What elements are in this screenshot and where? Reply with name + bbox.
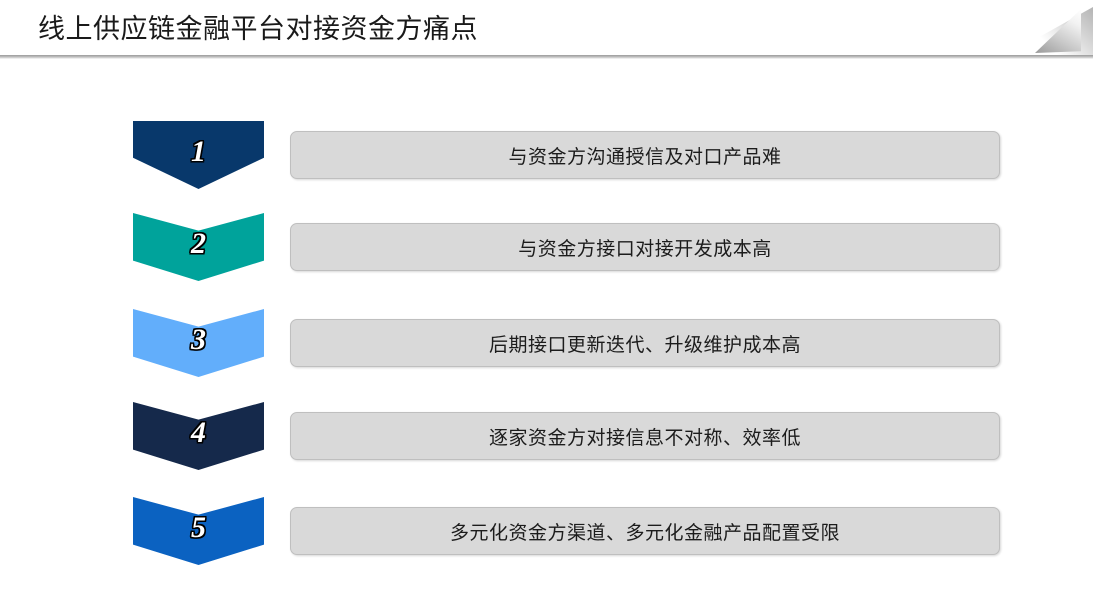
slide-header: 线上供应链金融平台对接资金方痛点 <box>0 0 1093 58</box>
pain-point-panel[interactable]: 与资金方沟通授信及对口产品难 <box>290 131 1000 179</box>
pain-point-panel[interactable]: 多元化资金方渠道、多元化金融产品配置受限 <box>290 507 1000 555</box>
pain-point-panel[interactable]: 后期接口更新迭代、升级维护成本高 <box>290 319 1000 367</box>
pain-point-row: 3后期接口更新迭代、升级维护成本高 <box>0 309 1093 404</box>
pain-point-panel[interactable]: 逐家资金方对接信息不对称、效率低 <box>290 412 1000 460</box>
step-number: 2 <box>133 213 264 281</box>
page-title: 线上供应链金融平台对接资金方痛点 <box>38 7 478 46</box>
step-badge-3[interactable]: 3 <box>133 309 264 377</box>
pain-point-label: 多元化资金方渠道、多元化金融产品配置受限 <box>450 518 840 545</box>
page-curl-icon <box>1007 0 1093 59</box>
pain-point-row: 5多元化资金方渠道、多元化金融产品配置受限 <box>0 497 1093 592</box>
pain-point-label: 与资金方接口对接开发成本高 <box>518 234 772 261</box>
pain-point-label: 逐家资金方对接信息不对称、效率低 <box>489 423 801 450</box>
page-curl-fold <box>1035 9 1081 53</box>
page-curl-shadow <box>1007 7 1093 55</box>
pain-point-panel[interactable]: 与资金方接口对接开发成本高 <box>290 223 1000 271</box>
pain-point-list: 1与资金方沟通授信及对口产品难2与资金方接口对接开发成本高3后期接口更新迭代、升… <box>0 58 1093 574</box>
step-badge-4[interactable]: 4 <box>133 402 264 470</box>
pain-point-row: 4逐家资金方对接信息不对称、效率低 <box>0 402 1093 497</box>
step-number: 3 <box>133 309 264 377</box>
step-badge-5[interactable]: 5 <box>133 497 264 565</box>
step-badge-1[interactable]: 1 <box>133 121 264 189</box>
pain-point-row: 1与资金方沟通授信及对口产品难 <box>0 121 1093 216</box>
step-badge-2[interactable]: 2 <box>133 213 264 281</box>
step-number: 1 <box>133 121 264 189</box>
pain-point-label: 与资金方沟通授信及对口产品难 <box>508 142 781 169</box>
pain-point-row: 2与资金方接口对接开发成本高 <box>0 213 1093 308</box>
step-number: 5 <box>133 497 264 565</box>
step-number: 4 <box>133 402 264 470</box>
pain-point-label: 后期接口更新迭代、升级维护成本高 <box>489 330 801 357</box>
